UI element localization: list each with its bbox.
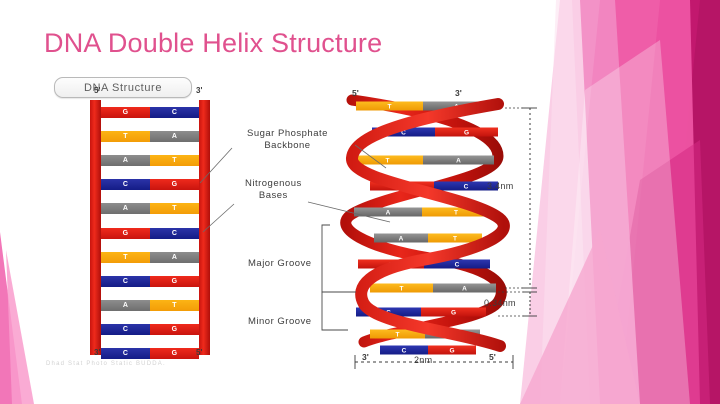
measurement-width: 2nm — [414, 355, 432, 365]
credit-line: Dhad Stat Photo Static BUDDA. — [46, 361, 166, 367]
measurement-pitch: 3.4nm — [487, 181, 514, 191]
measurement-guides — [0, 0, 720, 404]
slide-canvas: DNA Double Helix Structure DNA Structure… — [0, 0, 720, 404]
measurement-rise: 0.34nm — [484, 298, 516, 308]
